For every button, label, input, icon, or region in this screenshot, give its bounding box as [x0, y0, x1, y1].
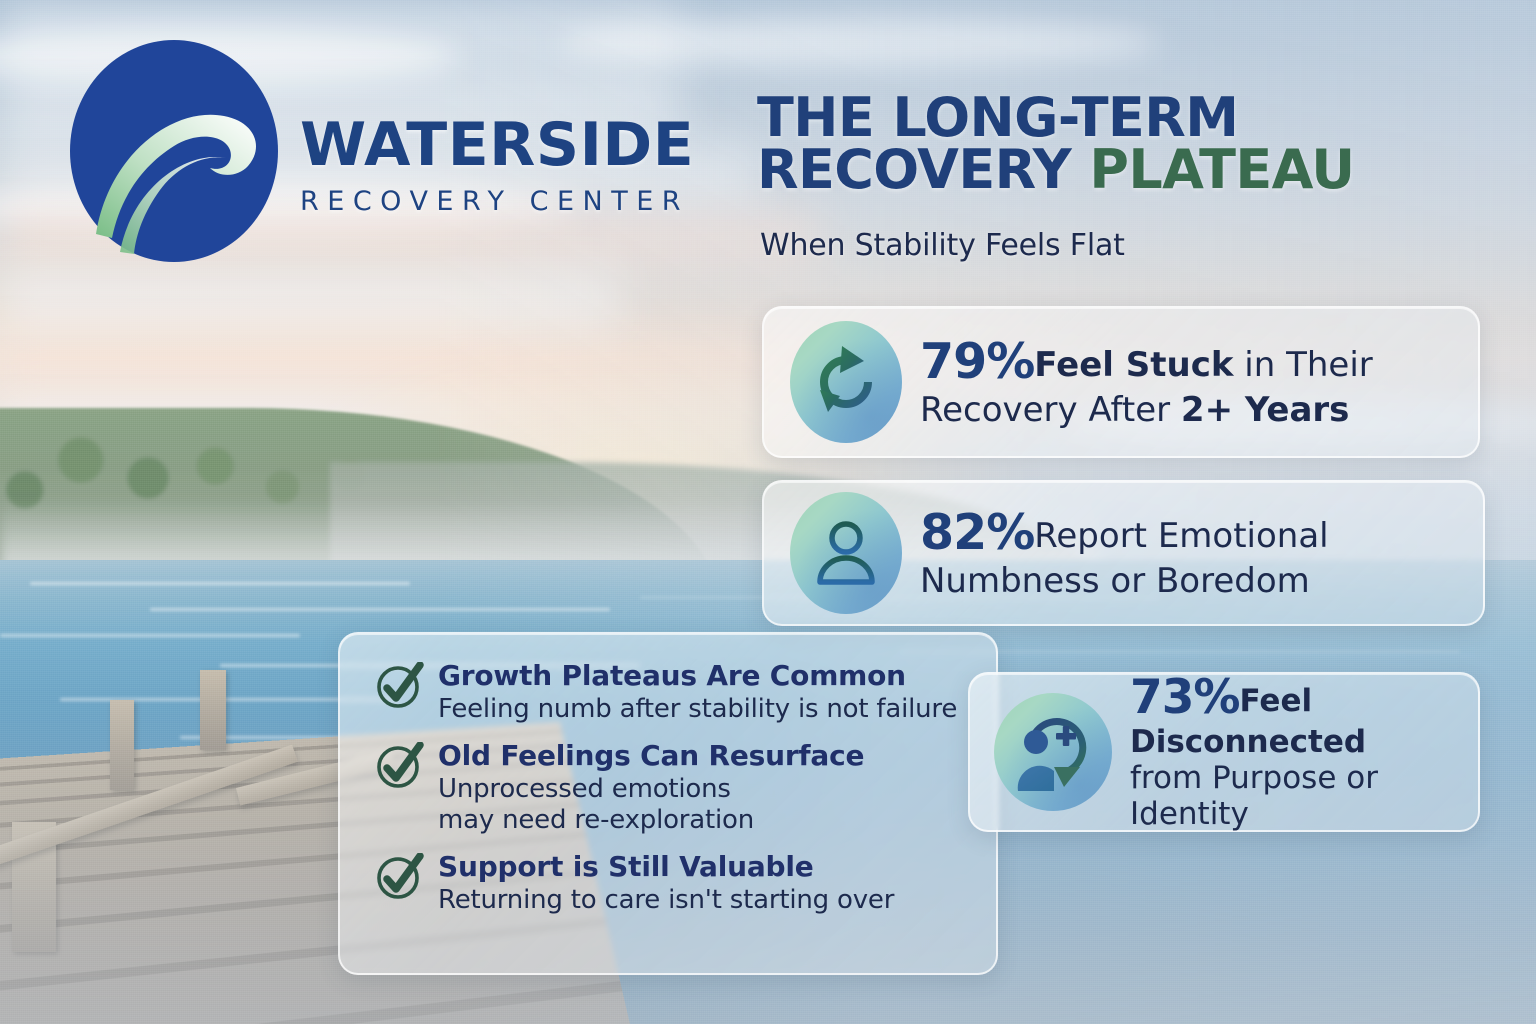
title-line-2-green: PLATEAU [1089, 138, 1354, 201]
stat-line2-bold: 2+ Years [1181, 390, 1350, 430]
brand-name-line1: WATERSIDE [300, 115, 694, 175]
page-subtitle: When Stability Feels Flat [760, 228, 1125, 263]
stat-line-3: from Purpose or Identity [1130, 761, 1460, 833]
stat-line-2: Numbness or Boredom [920, 562, 1329, 601]
list-item-desc: Feeling numb after stability is not fail… [438, 694, 957, 725]
stat-percent: 79% [920, 333, 1034, 390]
list-item-title: Support is Still Valuable [438, 851, 894, 882]
stat-line3-reg: from Purpose or Identity [1130, 760, 1378, 832]
stat-line-2: Disconnected [1130, 725, 1460, 761]
checklist-panel: Growth Plateaus Are Common Feeling numb … [338, 632, 998, 975]
list-item-title: Old Feelings Can Resurface [438, 740, 864, 771]
stat-line1-reg: Report Emotional [1034, 516, 1328, 556]
list-item: Old Feelings Can Resurface Unprocessed e… [374, 740, 966, 836]
list-item-title: Growth Plateaus Are Common [438, 660, 957, 691]
list-item-desc: Unprocessed emotions may need re-explora… [438, 774, 864, 835]
stat-line-1: 79%Feel Stuck in Their [920, 334, 1373, 391]
title-line-2-navy: RECOVERY [757, 138, 1089, 201]
page-title: THE LONG-TERM RECOVERY PLATEAU [757, 92, 1457, 196]
brand-name-line2: RECOVERY CENTER [300, 188, 694, 215]
title-line-1: THE LONG-TERM [757, 92, 1457, 144]
stat-text-79: 79%Feel Stuck in Their Recovery After 2+… [920, 334, 1373, 430]
list-item-body: Growth Plateaus Are Common Feeling numb … [438, 660, 957, 725]
list-item: Support is Still Valuable Returning to c… [374, 851, 966, 916]
stat-percent: 82% [920, 504, 1034, 561]
stat-percent: 73% [1130, 670, 1240, 725]
list-item-body: Support is Still Valuable Returning to c… [438, 851, 894, 916]
wave-circle-logo-icon [68, 38, 280, 264]
brand-wordmark: WATERSIDE RECOVERY CENTER [300, 115, 694, 215]
list-item-desc: Returning to care isn't starting over [438, 885, 894, 916]
title-line-2: RECOVERY PLATEAU [757, 144, 1457, 196]
stat-line-1: 82%Report Emotional [920, 505, 1329, 562]
refresh-cycle-icon [790, 321, 902, 443]
list-item-body: Old Feelings Can Resurface Unprocessed e… [438, 740, 864, 836]
stat-line1-bold: Feel Stuck [1034, 345, 1233, 385]
check-circle-icon [374, 662, 426, 710]
stat-line2-bold: Disconnected [1130, 724, 1366, 760]
stat-text-73: 73%Feel Disconnected from Purpose or Ide… [1130, 671, 1460, 833]
stat-line2-reg: Recovery After [920, 390, 1181, 430]
check-circle-icon [374, 853, 426, 901]
stat-card-73: 73%Feel Disconnected from Purpose or Ide… [968, 672, 1480, 832]
stat-line2-reg: Numbness or Boredom [920, 561, 1310, 601]
stat-card-82: 82%Report Emotional Numbness or Boredom [762, 480, 1485, 626]
stat-line1-bold: Feel [1240, 683, 1313, 719]
list-item: Growth Plateaus Are Common Feeling numb … [374, 660, 966, 725]
stat-line-1: 73%Feel [1130, 671, 1460, 726]
stat-line1-reg: in Their [1233, 345, 1372, 385]
brand-logo-block: WATERSIDE RECOVERY CENTER [68, 38, 694, 264]
stat-card-79: 79%Feel Stuck in Their Recovery After 2+… [762, 306, 1480, 458]
person-add-cycle-icon [994, 693, 1112, 811]
stat-line-2: Recovery After 2+ Years [920, 391, 1373, 430]
check-circle-icon [374, 742, 426, 790]
person-icon [790, 492, 902, 614]
stat-text-82: 82%Report Emotional Numbness or Boredom [920, 505, 1329, 601]
